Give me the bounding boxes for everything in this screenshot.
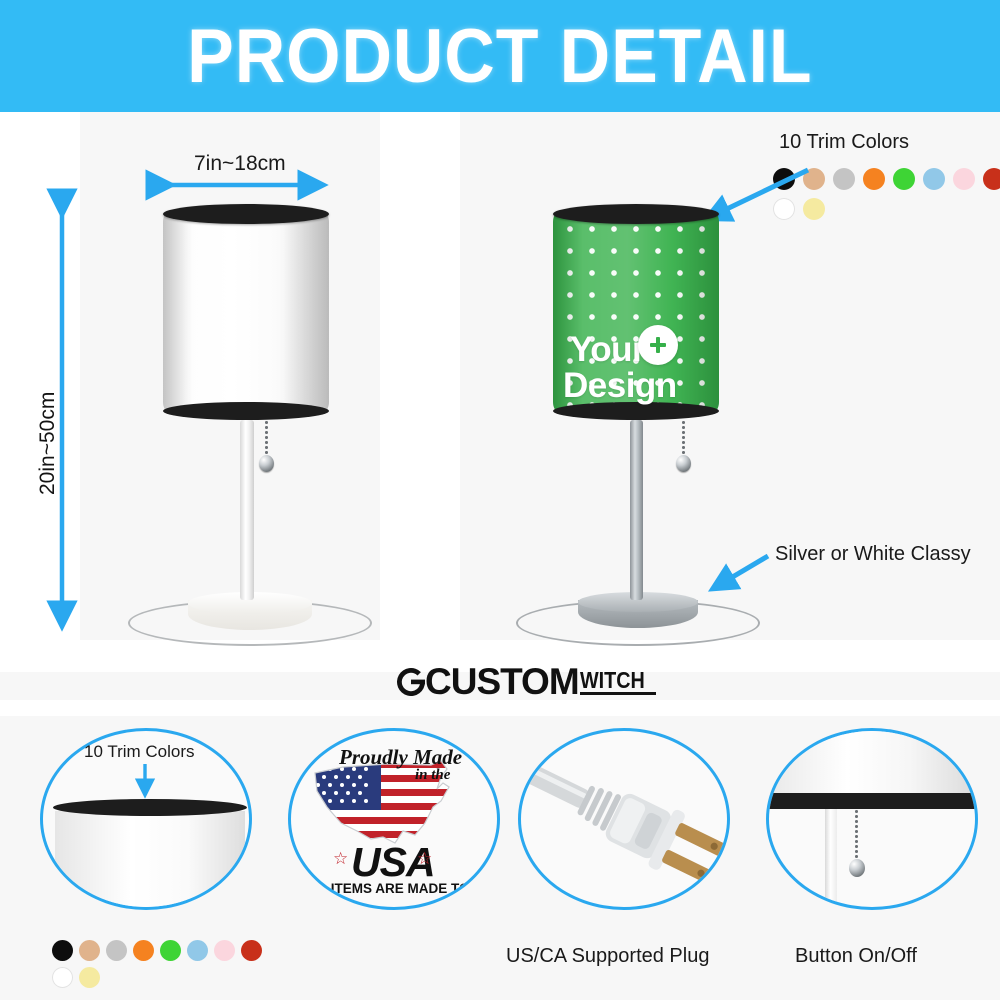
pull-chain-icon	[769, 731, 975, 907]
pull-chain[interactable]	[682, 420, 685, 460]
trim-color-swatches-bottom[interactable]	[52, 940, 284, 988]
star-icon-right: ☆	[417, 849, 432, 869]
trim-swatch-red[interactable]	[983, 168, 1000, 190]
pull-chain[interactable]	[265, 420, 268, 460]
header-banner: PRODUCT DETAIL	[0, 0, 1000, 112]
lamp-trim-top	[553, 204, 719, 224]
trim-swatch-gray[interactable]	[106, 940, 127, 961]
width-dimension-label: 7in~18cm	[194, 152, 286, 176]
bg-patch	[0, 700, 1000, 716]
trim-swatch-green[interactable]	[893, 168, 915, 190]
brand-c-icon	[394, 665, 428, 699]
lamp-trim-bottom	[163, 402, 329, 420]
lamp-shade	[163, 212, 329, 412]
pull-chain-ball[interactable]	[259, 455, 274, 472]
trim-swatch-red[interactable]	[241, 940, 262, 961]
infographic-canvas: PRODUCT DETAIL 10 Trim Colors 7in~18cm	[0, 0, 1000, 1000]
brand-name-custom: CUSTOM	[425, 665, 579, 699]
usa-line-2: in the	[415, 767, 450, 784]
trim-swatch-white[interactable]	[52, 967, 73, 988]
bg-patch	[380, 112, 460, 672]
trim-swatch-pink[interactable]	[214, 940, 235, 961]
trim-swatch-tan[interactable]	[79, 940, 100, 961]
trim-swatch-yellow[interactable]	[79, 967, 100, 988]
base-finish-label: Silver or White Classy	[775, 543, 971, 566]
usa-line-4: ALL ITEMS ARE MADE TO ORDER!	[301, 881, 500, 896]
design-text-line1: Your	[570, 330, 645, 370]
pull-chain-ball[interactable]	[676, 455, 691, 472]
trim-swatch-light-blue[interactable]	[923, 168, 945, 190]
trim-swatch-gray[interactable]	[833, 168, 855, 190]
design-text-line2: Design	[563, 366, 677, 406]
trim-swatch-pink[interactable]	[953, 168, 975, 190]
trim-colors-down-arrow-icon	[136, 762, 156, 804]
page-title: PRODUCT DETAIL	[187, 13, 812, 100]
feature-trim-colors-label: 10 Trim Colors	[84, 742, 195, 762]
trim-swatch-orange[interactable]	[863, 168, 885, 190]
star-icon-left: ☆	[333, 849, 348, 869]
trim-colors-label-top: 10 Trim Colors	[779, 131, 909, 154]
brand-logo: CUSTOM WITCH	[394, 665, 656, 699]
feature-circle-made-in-usa: Proudly Made in the USA ☆ ☆ ALL ITEMS AR…	[288, 728, 500, 910]
brand-name-witch: WITCH	[580, 669, 645, 691]
height-dimension-arrow-icon	[52, 205, 72, 635]
feature-plug-label: US/CA Supported Plug	[506, 945, 709, 968]
lamp-trim-top	[163, 204, 329, 224]
base-finish-arrow-icon	[700, 548, 780, 600]
trim-swatch-orange[interactable]	[133, 940, 154, 961]
feature-circle-switch	[766, 728, 978, 910]
shade-highlight	[163, 212, 329, 412]
plus-icon[interactable]	[638, 325, 678, 365]
trim-swatch-light-blue[interactable]	[187, 940, 208, 961]
width-dimension-arrow-icon	[160, 175, 332, 195]
trim-swatch-green[interactable]	[160, 940, 181, 961]
lamp-pole	[630, 420, 643, 600]
lamp-pole	[240, 420, 254, 600]
trim-swatch-black[interactable]	[52, 940, 73, 961]
power-plug-icon	[521, 731, 727, 907]
feature-circle-plug	[518, 728, 730, 910]
feature-switch-label: Button On/Off	[795, 945, 917, 968]
